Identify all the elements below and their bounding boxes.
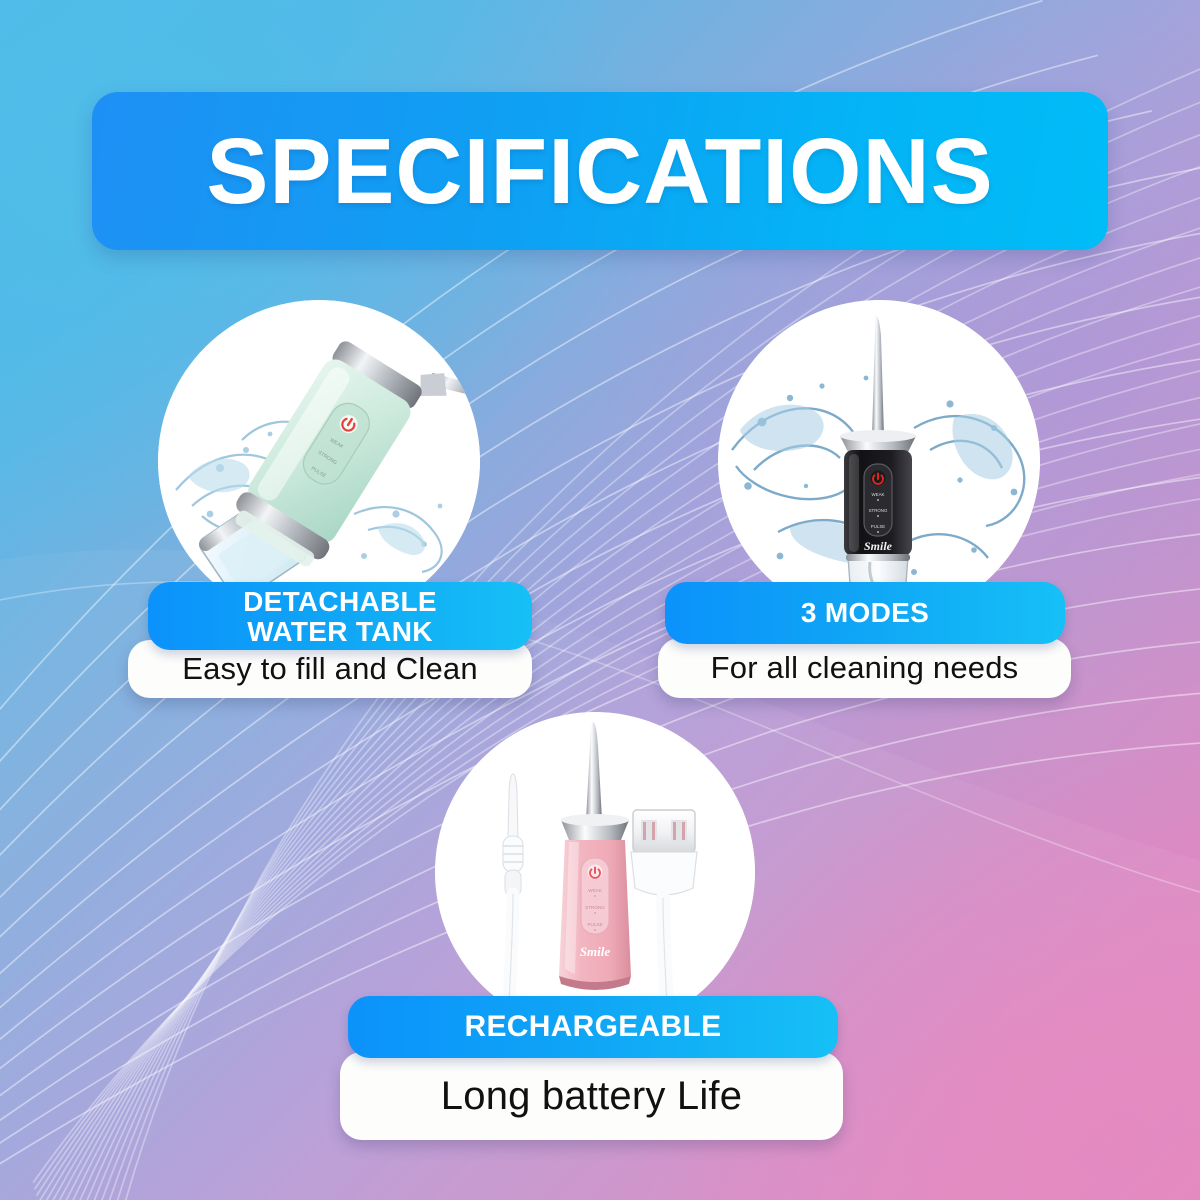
feature-image-detachable-water-tank: WEAK STRONG PULSE [158, 300, 480, 622]
header-banner: SPECIFICATIONS [92, 92, 1108, 250]
feature-title-line1: DETACHABLE [243, 587, 437, 617]
feature-title-pill-detachable-water-tank: DETACHABLE WATER TANK [148, 582, 532, 650]
feature-title-pill-rechargeable: RECHARGEABLE [348, 996, 838, 1058]
svg-text:STRONG: STRONG [585, 905, 605, 910]
svg-text:WEAK: WEAK [588, 888, 602, 893]
svg-text:PULSE: PULSE [871, 524, 885, 529]
feature-image-3-modes: WEAK STRONG PULSE Smile [718, 300, 1040, 622]
svg-text:Smile: Smile [864, 539, 893, 553]
feature-subtitle: Long battery Life [441, 1074, 742, 1119]
feature-subtitle: Easy to fill and Clean [182, 651, 478, 687]
poster-canvas: SPECIFICATIONS [0, 0, 1200, 1200]
feature-image-rechargeable: WEAK STRONG PULSE Smile [435, 712, 755, 1032]
feature-title-line1: RECHARGEABLE [465, 1010, 722, 1044]
svg-text:Smile: Smile [580, 944, 611, 959]
feature-subtitle-pill-rechargeable: Long battery Life [340, 1052, 843, 1140]
feature-subtitle: For all cleaning needs [711, 650, 1019, 686]
svg-text:STRONG: STRONG [869, 508, 888, 513]
feature-title-line1: 3 MODES [801, 597, 929, 629]
svg-text:PULSE: PULSE [587, 922, 602, 927]
page-title: SPECIFICATIONS [206, 125, 993, 218]
feature-title-line2: WATER TANK [243, 617, 437, 647]
svg-text:WEAK: WEAK [872, 492, 885, 497]
feature-subtitle-pill-3-modes: For all cleaning needs [658, 638, 1071, 698]
feature-title-pill-3-modes: 3 MODES [665, 582, 1065, 644]
